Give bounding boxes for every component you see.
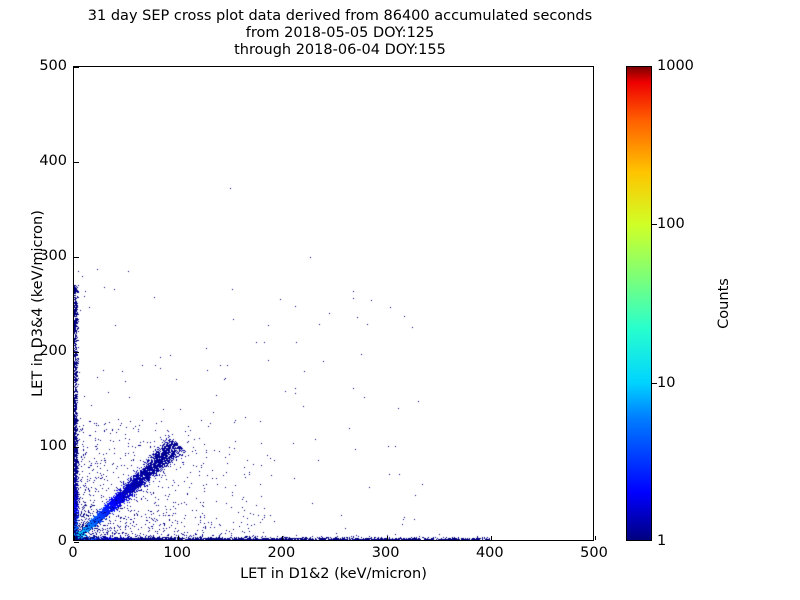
plot-axes <box>73 66 594 541</box>
colorbar <box>626 66 652 541</box>
x-tick-mark <box>178 536 179 541</box>
x-tick-mark <box>282 536 283 541</box>
y-tick-mark <box>74 352 79 353</box>
x-tick-label: 500 <box>580 545 608 561</box>
x-tick-mark <box>491 536 492 541</box>
title-line-2: from 2018-05-05 DOY:125 <box>0 25 680 42</box>
x-tick-label: 400 <box>476 545 504 561</box>
title-line-3: through 2018-06-04 DOY:155 <box>0 42 680 59</box>
y-tick-mark <box>74 162 79 163</box>
x-tick-mark <box>595 536 596 541</box>
x-tick-label: 300 <box>372 545 400 561</box>
x-tick-label: 100 <box>163 545 191 561</box>
x-axis-label: LET in D1&2 (keV/micron) <box>73 566 594 582</box>
scatter-plot-data <box>74 67 593 540</box>
colorbar-gradient <box>626 66 652 541</box>
x-tick-mark <box>387 536 388 541</box>
y-tick-mark <box>74 67 79 68</box>
y-tick-mark <box>74 257 79 258</box>
chart-title: 31 day SEP cross plot data derived from … <box>0 8 680 59</box>
colorbar-tick-label: 100 <box>657 216 685 232</box>
figure-canvas: 31 day SEP cross plot data derived from … <box>0 0 800 600</box>
colorbar-tick-label: 10 <box>657 375 675 391</box>
title-line-1: 31 day SEP cross plot data derived from … <box>0 8 680 25</box>
x-tick-mark <box>74 536 75 541</box>
x-tick-label: 200 <box>268 545 296 561</box>
y-tick-label: 0 <box>58 533 67 549</box>
y-axis-label: LET in D3&4 (keV/micron) <box>30 66 46 541</box>
x-tick-label: 0 <box>68 545 77 561</box>
colorbar-tick-label: 1000 <box>657 58 694 74</box>
colorbar-label: Counts <box>716 66 732 541</box>
y-tick-mark <box>74 447 79 448</box>
y-tick-mark <box>74 542 79 543</box>
colorbar-tick-label: 1 <box>657 533 666 549</box>
